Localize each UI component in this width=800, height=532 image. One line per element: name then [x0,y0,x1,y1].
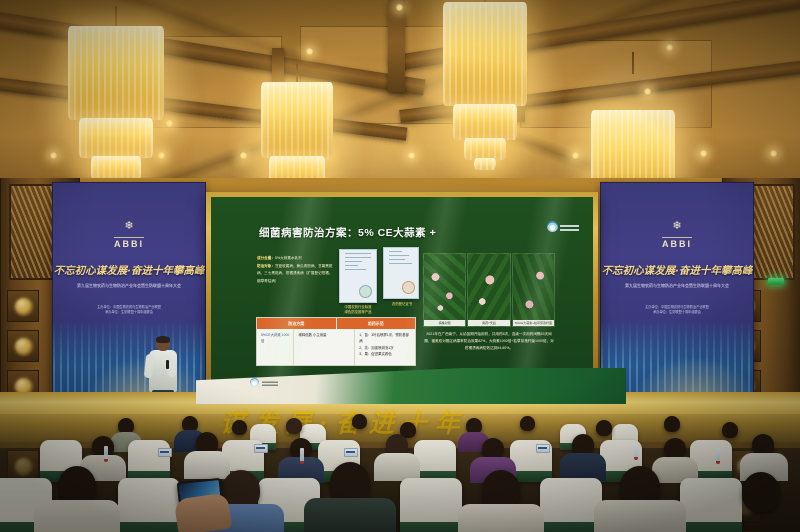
trial-photo: 用药7天后 [467,253,510,327]
attendee-head [742,472,780,512]
attendee-shoulders [594,500,686,532]
attendee-head [722,422,738,438]
chair [414,440,456,482]
sponsor-mark-icon [547,221,558,232]
banner-brand: ABBI [662,237,692,249]
table-name-card [344,448,358,457]
chandelier-tier [91,156,141,180]
recessed-downlight [166,120,173,127]
certificate-image [383,247,419,299]
trial-result-note: 2021年在广西南宁，从幼苗期开始用药，共用药5次，连续一次用药间隔15天间隔，… [423,331,555,352]
table-name-card [254,444,268,453]
gold-medallion [7,290,39,322]
trial-photo: 5%CE大蒜素+枯草芽孢杆菌 [512,253,555,327]
attendee-shoulders [304,498,396,532]
chair [540,478,602,532]
chair [128,440,170,482]
stage-wash-light [240,152,247,159]
conference-hall-photo: ❄ ABBI 不忘初心谋发展·奋进十年攀高峰 第九届生物农药与生物防治产业年会暨… [0,0,800,532]
recessed-downlight [666,44,673,51]
stage-logo-wordmark [262,380,278,386]
attendee-head [232,420,247,435]
stage-wash-light [408,152,415,159]
certificate-caption: 农药登记证书 [379,301,425,306]
trial-photo-block: 病株对照 用药7天后 5%CE大蒜素+枯草芽孢杆菌 2021年在广西南宁，从幼苗… [423,253,555,352]
chandelier-tier [68,26,164,120]
ingredient-label: 成分含量： [257,256,275,260]
table-name-card [536,444,550,453]
attendee-head [664,416,680,432]
sponsor-wordmark [560,223,579,231]
attendee-hand [174,492,232,532]
certificate-seal-icon [402,281,415,294]
attendee-head [520,416,535,431]
dove-icon: ❄ [672,221,681,232]
photo-grid: 病株对照 用药7天后 5%CE大蒜素+枯草芽孢杆菌 [423,253,555,327]
attendee-shoulders [458,504,544,532]
chandelier-tier [474,158,496,170]
table-header-cell: 防治方案 [257,318,337,329]
chair [680,478,742,532]
attendee-head [352,414,367,429]
table-cell-method: 稀释倍数 小主用量 [294,329,355,365]
attendee-shoulders [34,500,120,532]
banner-organizers: 主办单位：中国生物农药与生物防治产业联盟 承办单位：生防联盟十周年组委会 [645,305,709,315]
recessed-downlight [396,4,403,11]
table-name-card [158,448,172,457]
projection-screen-frame: 细菌病害防治方案：5% CE大蒜素 + 成分含量：5%大蒜素水乳剂 防治对象：甘… [206,192,598,392]
attendee-head [286,418,302,434]
handheld-microphone [166,360,169,369]
slide-title: 细菌病害防治方案：5% CE大蒜素 + [259,225,436,240]
stage-wash-light [50,152,57,159]
event-banner-left: ❄ ABBI 不忘初心谋发展·奋进十年攀高峰 第九届生物农药与生物防治产业年会暨… [52,182,206,422]
recessed-downlight [306,48,313,55]
water-bottle [634,444,638,460]
banner-subtitle: 第九届生物农药与生物防治产业年会暨生防联盟十周年大会 [77,283,181,289]
stage-front-logo [250,378,278,387]
stage-wash-light [572,152,579,159]
ceiling [0,0,800,192]
certificate-image [339,249,377,303]
table-cell-dose: 5%CE大蒜素 1000倍 [257,329,294,365]
water-bottle [104,446,108,462]
photo-caption: 用药7天后 [468,320,509,326]
chandelier-tier [79,118,153,158]
dove-icon: ❄ [124,221,133,232]
attendee-shoulders [560,453,606,481]
water-bottle [716,448,720,464]
stage-logo-mark-icon [250,378,259,387]
stage-wash-light [700,150,707,157]
chandelier-tier [453,104,517,140]
table-header-cell: 用药示范 [337,318,416,329]
banner-brand: ABBI [114,237,144,249]
table-row: 5%CE大蒜素 1000倍 稀释倍数 小主用量 1、苗：3叶后喷雾1次，预防基部… [257,329,415,365]
ingredient-value: 5%大蒜素水乳剂 [275,256,302,260]
banner-slogan: 不忘初心谋发展·奋进十年攀高峰 [602,263,753,278]
trial-photo: 病株对照 [423,253,466,327]
treatment-table: 防治方案 用药示范 5%CE大蒜素 1000倍 稀释倍数 小主用量 1、苗：3叶… [256,317,416,366]
chandelier-tier [464,138,506,160]
chandelier-tier [443,2,527,106]
slide-product-info: 成分含量：5%大蒜素水乳剂 防治对象：甘蓝软腐病、黄瓜角斑病、甘薯黑斑病、三七黑… [257,255,333,285]
recessed-downlight [644,88,651,95]
attendee-shoulders [374,453,420,481]
chandelier-cord [115,6,117,28]
chair [400,478,462,532]
photo-caption: 病株对照 [424,320,465,326]
projection-screen: 细菌病害防治方案：5% CE大蒜素 + 成分含量：5%大蒜素水乳剂 防治对象：甘… [211,197,593,387]
stage-wash-light [158,152,165,159]
banner-organizers: 主办单位：中国生物农药与生物防治产业联盟 承办单位：生防联盟十周年组委会 [97,305,161,315]
banner-slogan: 不忘初心谋发展·奋进十年攀高峰 [54,263,205,278]
photo-caption: 5%CE大蒜素+枯草芽孢杆菌 [513,320,554,326]
exit-sign [768,278,784,285]
sponsor-logo [547,221,579,232]
banner-subtitle: 第九届生物农药与生物防治产业年会暨生防联盟十周年大会 [625,283,729,289]
table-header-row: 防治方案 用药示范 [257,318,415,329]
attendee-shoulders [184,451,230,479]
attendee-head [596,420,612,436]
chandelier-cord [632,52,634,74]
presenter-hair [156,336,170,343]
presentation-slide: 细菌病害防治方案：5% CE大蒜素 + 成分含量：5%大蒜素水乳剂 防治对象：甘… [211,197,593,387]
stage-wash-light [770,150,777,157]
chandelier-tier [261,82,333,158]
target-label: 防治对象： [257,264,275,268]
certificate-seal-icon [359,285,372,298]
water-bottle [300,448,304,464]
gold-medallion [7,330,39,362]
ceiling-beam-vertical [388,0,405,92]
table-cell-schedule: 1、苗：3叶后喷雾1次，预防基部病 2、花：加强喷淋浇1次 3、果：促进果实着色 [355,329,415,365]
chair [118,478,180,532]
